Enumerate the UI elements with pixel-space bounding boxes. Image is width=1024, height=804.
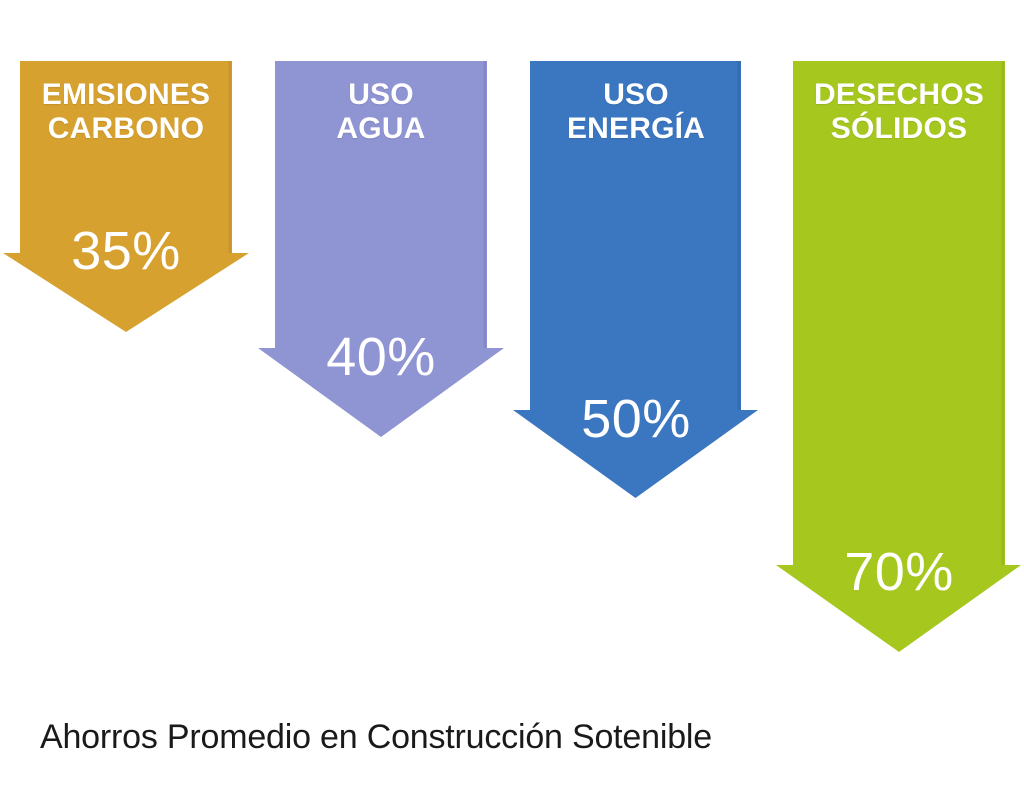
arrow-shapes-layer	[0, 0, 1024, 804]
arrow-shape-emisiones-carbono	[3, 61, 249, 332]
arrow-shape-uso-agua	[258, 61, 504, 437]
caption-text: Ahorros Promedio en Construcción Sotenib…	[40, 718, 860, 757]
infographic-canvas: EMISIONES CARBONO35%USO AGUA40%USO ENERG…	[0, 0, 1024, 804]
arrow-shape-desechos-solidos	[776, 61, 1021, 652]
arrow-shape-uso-energia	[513, 61, 758, 498]
